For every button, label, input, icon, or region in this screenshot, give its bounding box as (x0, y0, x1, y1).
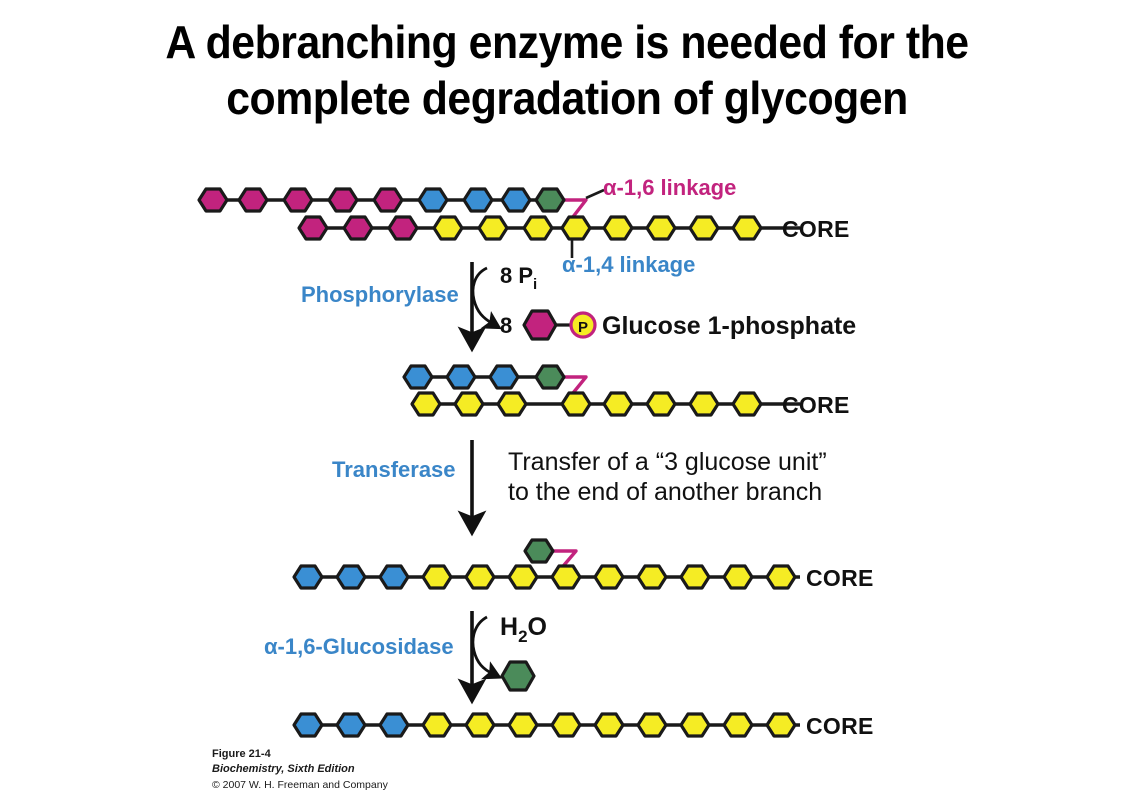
core-label-step4: CORE (806, 713, 874, 739)
step2-chain-group: CORE (404, 366, 850, 418)
core-label-step3: CORE (806, 565, 874, 591)
hexagon-glucose (733, 217, 761, 239)
step2-bottom-row (412, 393, 761, 415)
hexagon-glucose (724, 714, 752, 736)
core-label-step1: CORE (782, 216, 850, 242)
transferase-step: Transferase Transfer of a “3 glucose uni… (332, 440, 827, 522)
hexagon-glucose (380, 714, 408, 736)
hexagon-glucose (423, 714, 451, 736)
step1-bottom-row (299, 217, 761, 239)
step4-chain-group: CORE (294, 713, 874, 739)
transferase-label: Transferase (332, 457, 456, 482)
hexagon-glucose (690, 217, 718, 239)
hexagon-glucose (498, 393, 526, 415)
hexagon-glucose (389, 217, 417, 239)
hexagon-glucose (524, 217, 552, 239)
hexagon-glucose (552, 714, 580, 736)
alpha-1-6-linkage-label: α-1,6 linkage (603, 175, 736, 200)
hexagon-glucose (681, 566, 709, 588)
g1p-count-label: 8 (500, 313, 512, 338)
phosphate-letter: P (578, 319, 588, 336)
hexagon-glucose (337, 714, 365, 736)
hexagon-glucose (638, 566, 666, 588)
hexagon-glucose (404, 366, 432, 388)
water-label: H2O (500, 613, 547, 646)
hexagon-glucose (524, 311, 556, 339)
hexagon-glucose-branchpoint (536, 366, 564, 388)
hexagon-glucose (647, 393, 675, 415)
hexagon-released-glucose (502, 662, 534, 690)
hexagon-glucose (380, 566, 408, 588)
hexagon-glucose-attachment (552, 566, 580, 588)
hexagon-glucose (502, 189, 530, 211)
hexagon-glucose (604, 217, 632, 239)
alpha-1-4-linkage-label: α-1,4 linkage (562, 252, 695, 277)
hexagon-glucose (681, 714, 709, 736)
step1-chain-group: α-1,6 linkage α-1,4 linkage CORE (0, 0, 850, 277)
hexagon-glucose (294, 714, 322, 736)
hexagon-glucose-branchpoint (525, 540, 553, 562)
transfer-description-line1: Transfer of a “3 glucose unit” (508, 448, 827, 476)
hexagon-glucose (329, 189, 357, 211)
hexagon-glucose (294, 566, 322, 588)
step3-chain-group: CORE (294, 540, 874, 591)
hexagon-glucose (447, 366, 475, 388)
hexagon-glucose-branchpoint (536, 189, 564, 211)
figure-copyright: © 2007 W. H. Freeman and Company (212, 779, 388, 791)
hexagon-glucose (239, 189, 267, 211)
hexagon-glucose (638, 714, 666, 736)
pi-input-label: 8 Pi (500, 263, 537, 293)
hexagon-glucose (199, 189, 227, 211)
glucosidase-step: α-1,6-Glucosidase H2O (264, 611, 547, 690)
hexagon-glucose (690, 393, 718, 415)
hexagon-glucose (337, 566, 365, 588)
glucose-1-phosphate-label: Glucose 1-phosphate (602, 312, 856, 340)
hexagon-glucose (767, 714, 795, 736)
hexagon-glucose (604, 393, 632, 415)
hexagon-glucose (595, 714, 623, 736)
step1-top-row (199, 189, 564, 211)
hexagon-glucose (466, 714, 494, 736)
hexagon-glucose (509, 714, 537, 736)
figure-source-book: Biochemistry, Sixth Edition (212, 763, 355, 775)
hexagon-glucose (412, 393, 440, 415)
hexagon-glucose (509, 566, 537, 588)
hexagon-glucose (464, 189, 492, 211)
figure-number: Figure 21-4 (212, 748, 271, 760)
hexagon-glucose (595, 566, 623, 588)
slide-canvas: A debranching enzyme is needed for the c… (0, 0, 1134, 800)
core-label-step2: CORE (782, 392, 850, 418)
hexagon-glucose-attachment (562, 217, 590, 239)
hexagon-glucose-attachment (562, 393, 590, 415)
hexagon-glucose (767, 566, 795, 588)
hexagon-glucose (284, 189, 312, 211)
hexagon-glucose (455, 393, 483, 415)
hexagon-glucose (423, 566, 451, 588)
transfer-description-line2: to the end of another branch (508, 478, 822, 506)
glucosidase-label: α-1,6-Glucosidase (264, 634, 454, 659)
hexagon-glucose (344, 217, 372, 239)
hexagon-glucose (724, 566, 752, 588)
hexagon-glucose (299, 217, 327, 239)
hexagon-glucose (374, 189, 402, 211)
hexagon-glucose (490, 366, 518, 388)
hexagon-glucose (733, 393, 761, 415)
phosphorylase-label: Phosphorylase (301, 282, 459, 307)
hexagon-glucose (479, 217, 507, 239)
hexagon-glucose (419, 189, 447, 211)
glycogen-degradation-diagram: α-1,6 linkage α-1,4 linkage CORE Phospho… (0, 0, 1134, 800)
hexagon-glucose (466, 566, 494, 588)
hexagon-glucose (434, 217, 462, 239)
glucose-1-phosphate-molecule: P Glucose 1-phosphate (524, 311, 856, 340)
hexagon-glucose (647, 217, 675, 239)
